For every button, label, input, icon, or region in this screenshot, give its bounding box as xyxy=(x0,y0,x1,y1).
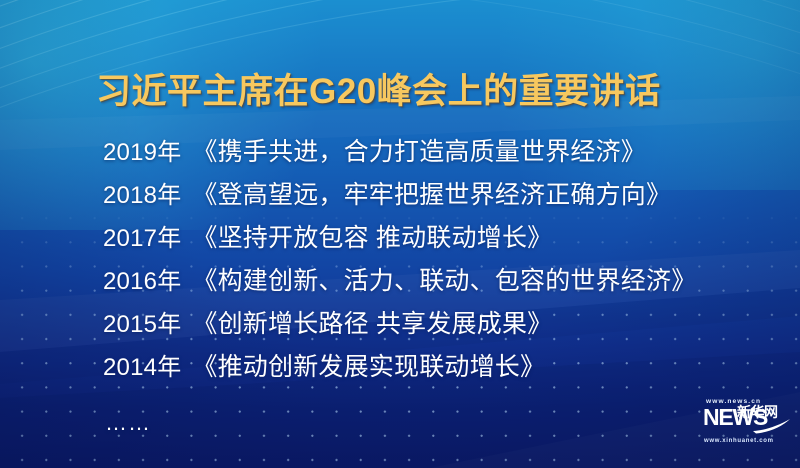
list-item: 2016年 《构建创新、活力、联动、包容的世界经济》 xyxy=(0,261,800,304)
logo-url-bottom: www.xinhuanet.com xyxy=(704,438,774,444)
logo-swipe-icon xyxy=(752,418,792,434)
speech-title: 《推动创新发展实现联动增长》 xyxy=(192,347,545,383)
list-item: 2018年 《登高望远，牢牢把握世界经济正确方向》 xyxy=(0,175,800,218)
logo-mark: NEWS 新华网 xyxy=(702,406,790,436)
speech-year: 2019年 xyxy=(103,132,181,167)
speech-year: 2015年 xyxy=(103,304,181,339)
list-item: 2015年 《创新增长路径 共享发展成果》 xyxy=(0,304,800,347)
speech-title: 《登高望远，牢牢把握世界经济正确方向》 xyxy=(192,175,671,211)
speech-title: 《携手共进，合力打造高质量世界经济》 xyxy=(192,132,646,168)
page-title: 习近平主席在G20峰会上的重要讲话 xyxy=(96,63,661,114)
list-item: 2014年 《推动创新发展实现联动增长》 xyxy=(0,347,800,390)
poster-canvas: 习近平主席在G20峰会上的重要讲话 2019年 《携手共进，合力打造高质量世界经… xyxy=(0,0,800,468)
speech-year: 2018年 xyxy=(103,175,181,210)
list-item: 2017年 《坚持开放包容 推动联动增长》 xyxy=(0,218,800,261)
speech-year: 2017年 xyxy=(103,218,181,253)
speech-title: 《构建创新、活力、联动、包容的世界经济》 xyxy=(192,261,696,297)
speech-title: 《创新增长路径 共享发展成果》 xyxy=(192,304,552,340)
speech-title: 《坚持开放包容 推动联动增长》 xyxy=(192,218,552,254)
xinhuanet-logo: www.news.cn NEWS 新华网 www.xinhuanet.com xyxy=(700,398,792,448)
list-item: 2019年 《携手共进，合力打造高质量世界经济》 xyxy=(0,132,800,175)
speech-list: 2019年 《携手共进，合力打造高质量世界经济》 2018年 《登高望远，牢牢把… xyxy=(0,132,800,390)
speech-year: 2014年 xyxy=(103,347,181,382)
continuation-ellipsis: …… xyxy=(105,410,151,436)
speech-year: 2016年 xyxy=(103,261,181,296)
